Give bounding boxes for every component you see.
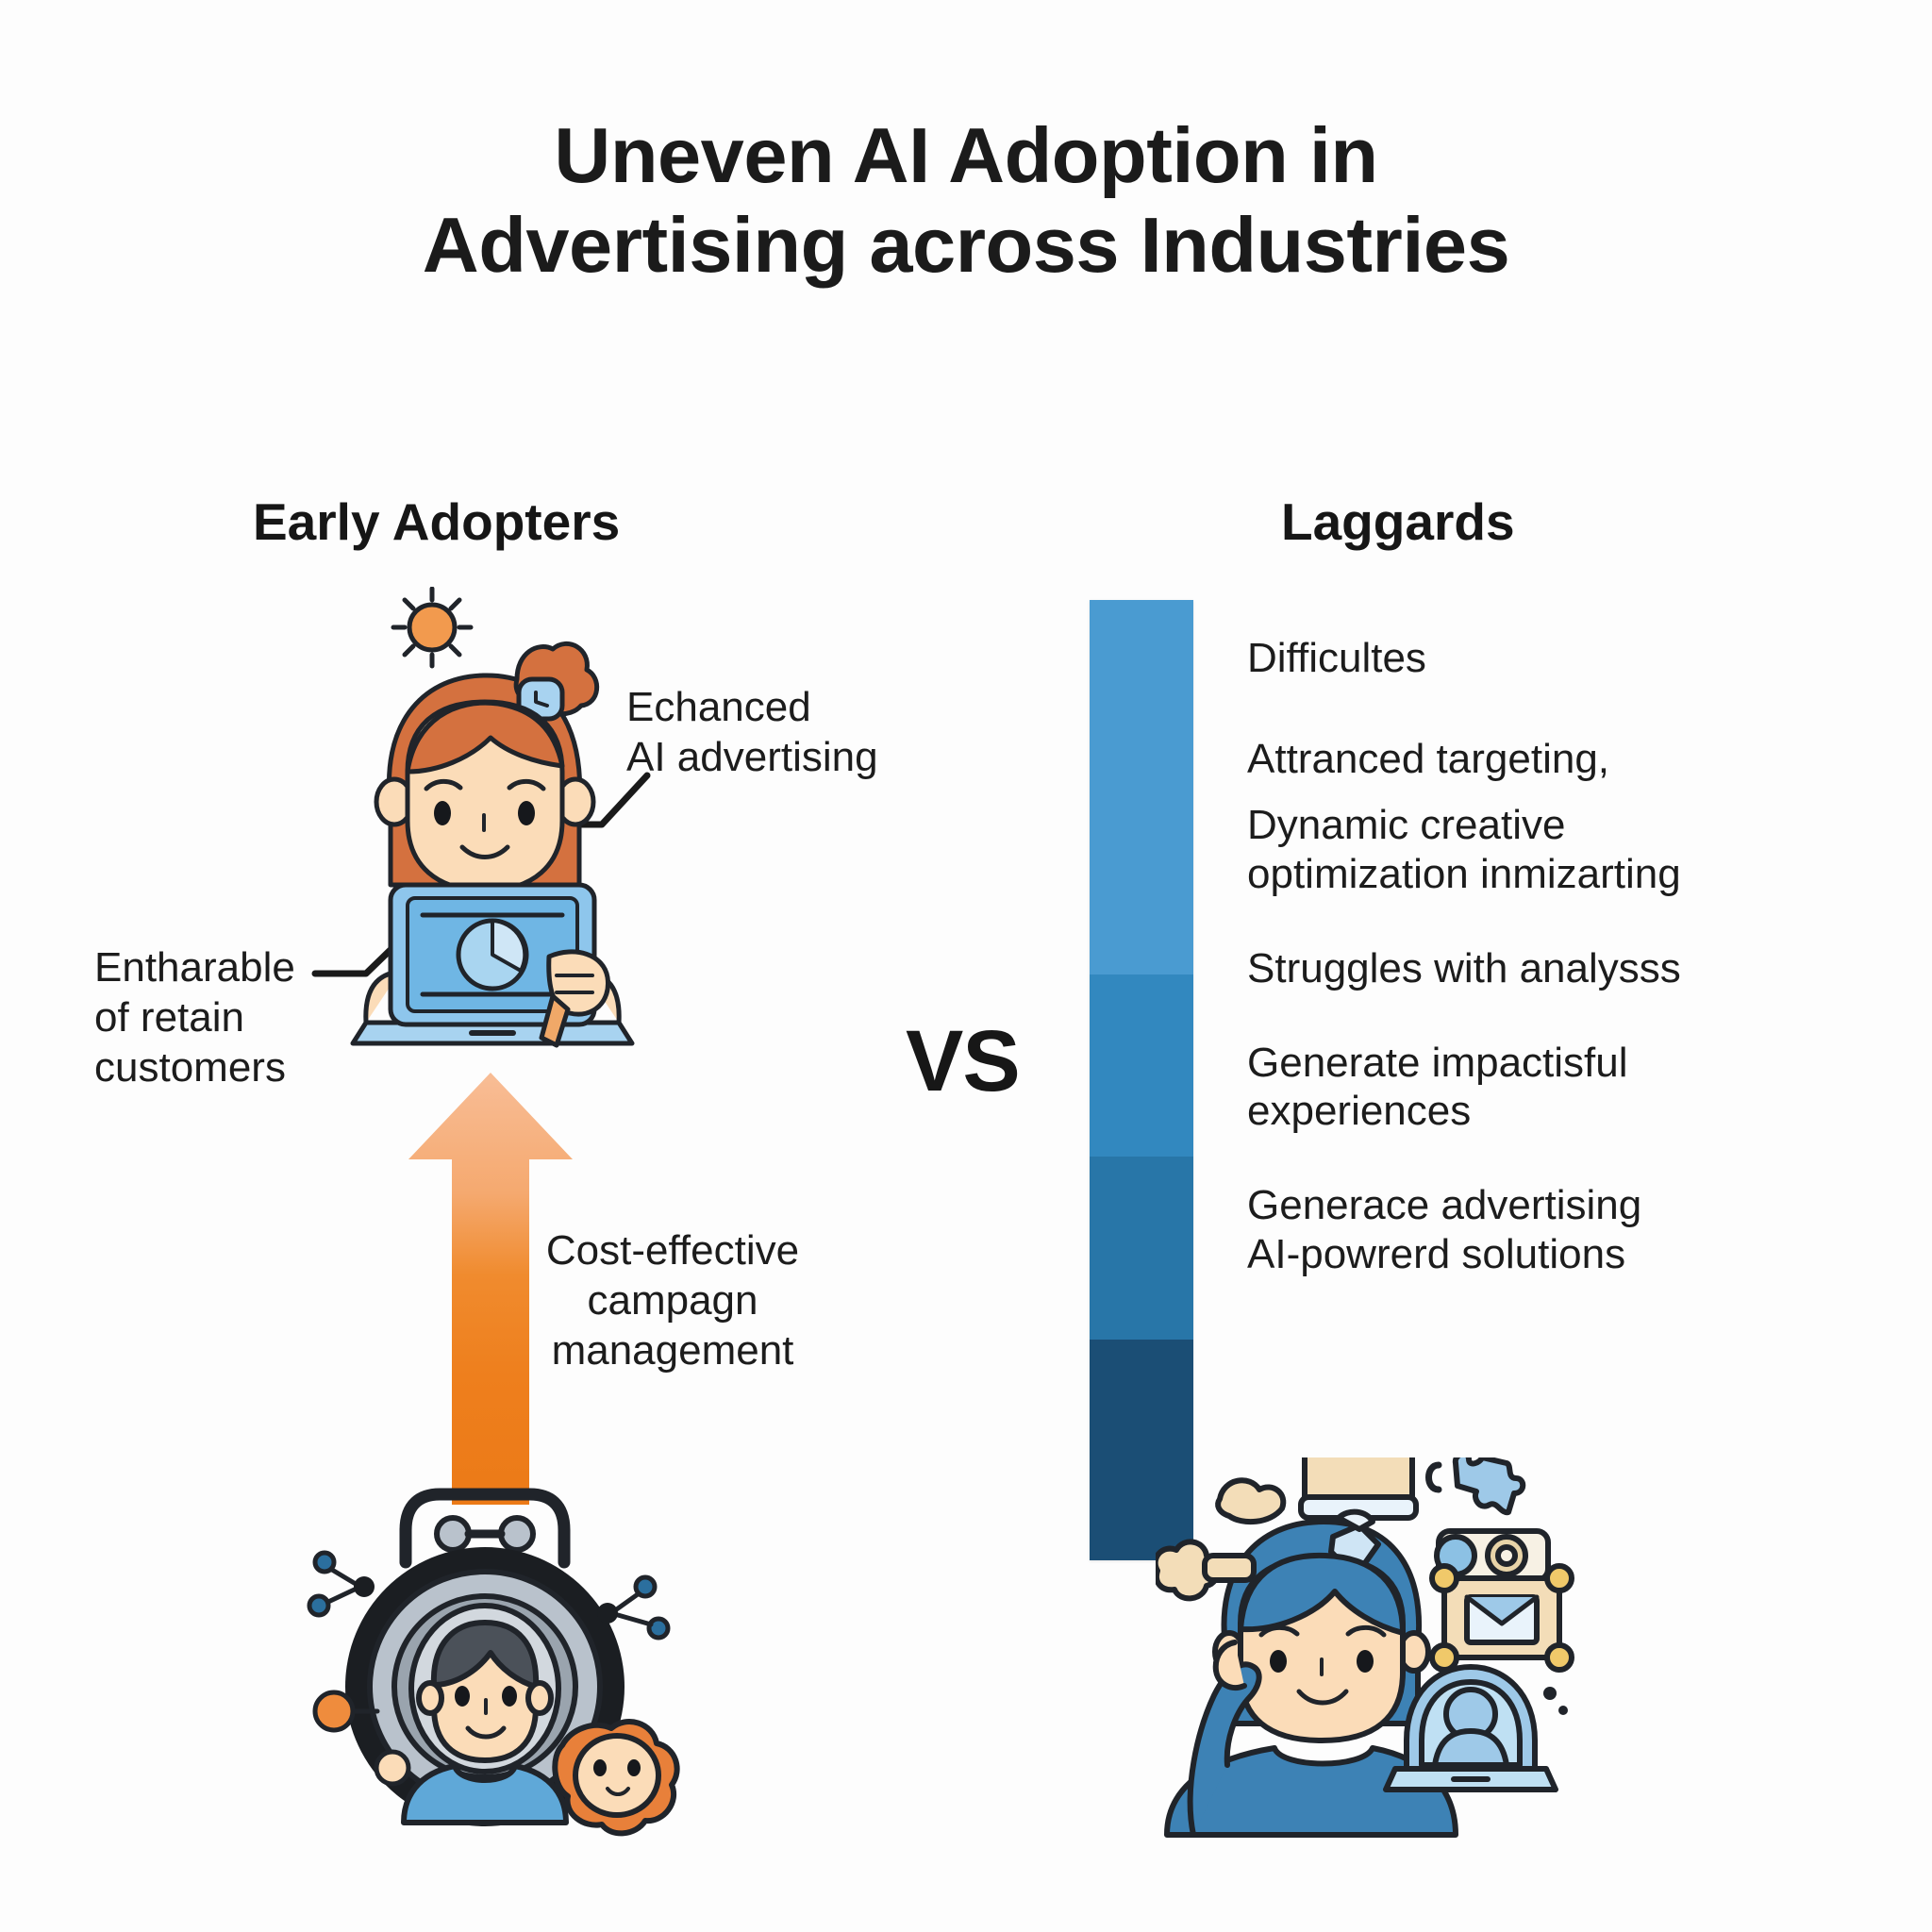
early-adopters-heading: Early Adopters [253, 491, 620, 552]
person-thinking-illustration [1156, 1457, 1580, 1854]
bar-segment [1090, 974, 1193, 1157]
callout-enhanced-ai: Echanced AI advertising [626, 683, 878, 783]
list-item: Difficultes [1247, 634, 1832, 683]
bar-segment [1090, 600, 1193, 974]
list-item: Generace advertising AI-powrerd solution… [1247, 1181, 1832, 1279]
bar-segment [1090, 1157, 1193, 1339]
magnifier-profile-illustration [283, 1472, 689, 1868]
laggards-heading: Laggards [1281, 491, 1515, 552]
woman-at-laptop-illustration [332, 587, 653, 1058]
list-item: Struggles with analysss [1247, 944, 1832, 993]
sun-icon [393, 589, 471, 666]
versus-label: VS [906, 1012, 1020, 1111]
list-item: Generate impactisful experiences [1247, 1039, 1832, 1137]
laggards-stacked-bar [1090, 600, 1193, 1560]
page-title: Uneven AI Adoption in Advertising across… [0, 111, 1932, 290]
list-item: Attranced targeting, [1247, 735, 1832, 784]
list-item: Dynamic creative optimization inmizartin… [1247, 801, 1832, 899]
infographic-canvas: Uneven AI Adoption in Advertising across… [0, 0, 1932, 1932]
callout-retain-customers: Entharable of retain customers [94, 943, 295, 1092]
callout-cost-effective: Cost-effective campagn management [522, 1226, 824, 1375]
laggards-list: Difficultes Attranced targeting, Dynamic… [1247, 634, 1832, 1279]
